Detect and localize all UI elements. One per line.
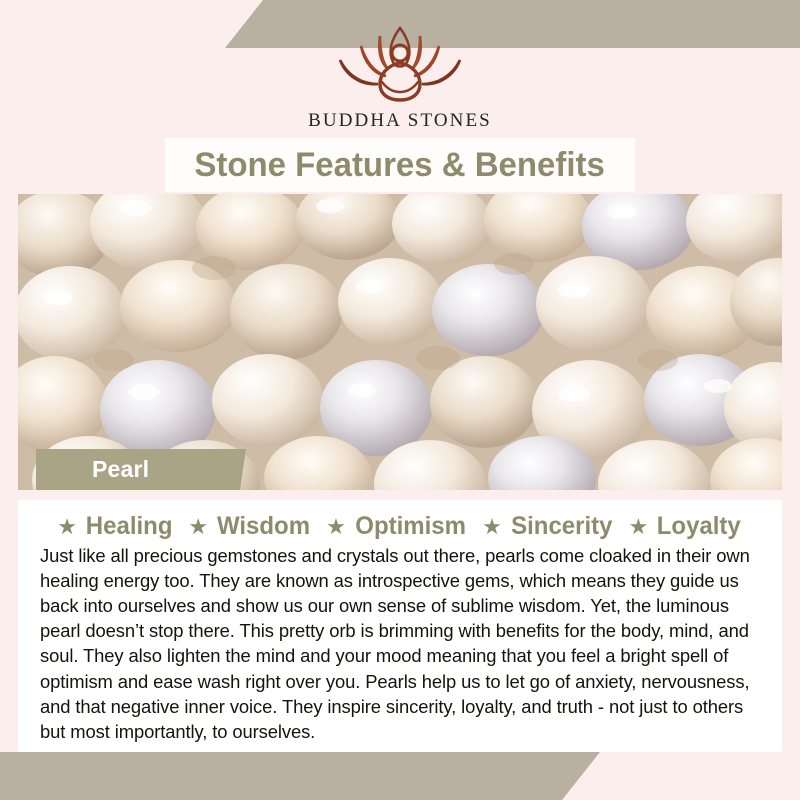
star-icon: ★ bbox=[482, 516, 502, 538]
benefit-item-loyalty: ★ Loyalty bbox=[628, 512, 742, 541]
stone-name-banner: Pearl bbox=[36, 449, 246, 490]
page-title: Stone Features & Benefits bbox=[195, 146, 606, 185]
decorative-band-bottom-left bbox=[0, 752, 600, 800]
benefit-label: Healing bbox=[86, 512, 173, 541]
star-icon: ★ bbox=[57, 516, 77, 538]
pearls-photo-illustration bbox=[18, 194, 782, 490]
benefit-item-wisdom: ★ Wisdom bbox=[188, 512, 312, 541]
infographic-canvas: BUDDHA STONES Stone Features & Benefits bbox=[0, 0, 800, 800]
pearls-photograph bbox=[18, 194, 782, 490]
description-text: Just like all precious gemstones and cry… bbox=[40, 543, 760, 744]
benefit-item-optimism: ★ Optimism bbox=[326, 512, 468, 541]
benefits-list: ★ Healing ★ Wisdom ★ Optimism ★ Sincerit… bbox=[40, 512, 760, 541]
stone-name: Pearl bbox=[92, 456, 149, 483]
lotus-meditation-icon bbox=[310, 22, 490, 106]
benefit-label: Wisdom bbox=[217, 512, 310, 541]
star-icon: ★ bbox=[628, 516, 648, 538]
content-panel: ★ Healing ★ Wisdom ★ Optimism ★ Sincerit… bbox=[18, 500, 782, 752]
benefit-label: Optimism bbox=[355, 512, 466, 541]
brand-logo: BUDDHA STONES bbox=[0, 22, 800, 132]
benefit-label: Sincerity bbox=[511, 512, 612, 541]
star-icon: ★ bbox=[326, 516, 346, 538]
benefit-item-sincerity: ★ Sincerity bbox=[482, 512, 614, 541]
benefit-label: Loyalty bbox=[657, 512, 741, 541]
star-icon: ★ bbox=[188, 516, 208, 538]
page-title-box: Stone Features & Benefits bbox=[165, 138, 635, 192]
brand-name: BUDDHA STONES bbox=[0, 110, 800, 132]
benefit-item-healing: ★ Healing bbox=[57, 512, 174, 541]
